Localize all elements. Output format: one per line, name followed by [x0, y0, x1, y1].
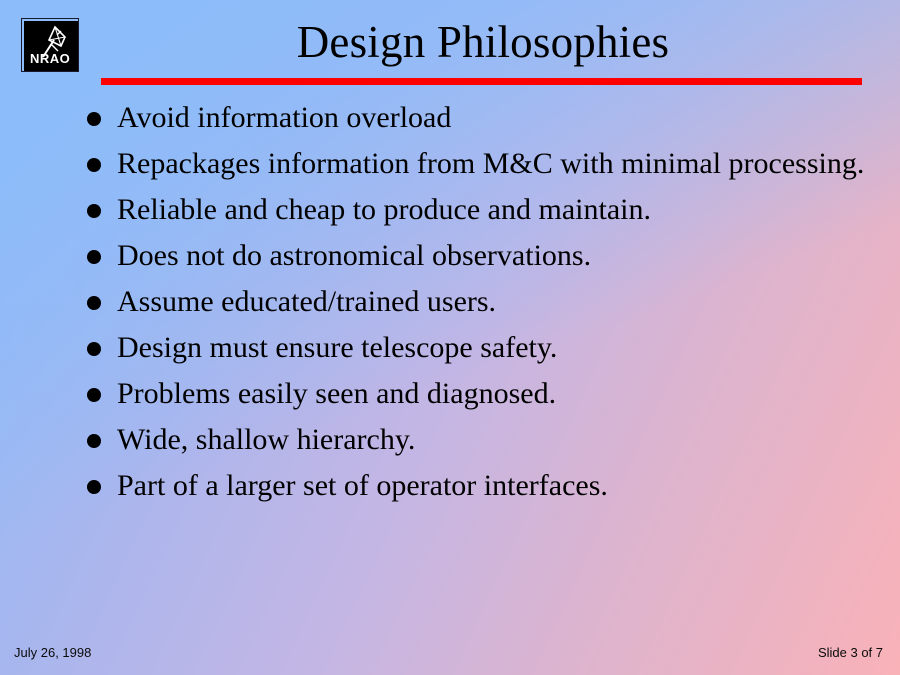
bullet-marker-icon	[87, 250, 101, 264]
svg-text:NRAO: NRAO	[30, 51, 70, 66]
bullet-item: Design must ensure telescope safety.	[84, 329, 884, 367]
title-underline-rule	[101, 78, 862, 85]
bullet-item: Part of a larger set of operator interfa…	[84, 467, 884, 505]
radio-telescope-icon: NRAO	[21, 18, 79, 72]
bullet-marker-icon	[87, 158, 101, 172]
bullet-item: Repackages information from M&C with min…	[84, 145, 884, 183]
bullet-marker-icon	[87, 480, 101, 494]
bullet-text: Design must ensure telescope safety.	[117, 329, 884, 367]
bullet-text: Avoid information overload	[117, 99, 884, 137]
bullet-item: Reliable and cheap to produce and mainta…	[84, 191, 884, 229]
footer-date: July 26, 1998	[14, 645, 91, 661]
bullet-item: Does not do astronomical observations.	[84, 237, 884, 275]
bullet-item: Assume educated/trained users.	[84, 283, 884, 321]
bullet-marker-icon	[87, 112, 101, 126]
presentation-slide: NRAO Design Philosophies Avoid informati…	[0, 0, 900, 675]
bullet-marker-icon	[87, 388, 101, 402]
bullet-text: Wide, shallow hierarchy.	[117, 421, 884, 459]
bullet-item: Wide, shallow hierarchy.	[84, 421, 884, 459]
bullet-marker-icon	[87, 342, 101, 356]
bullet-text: Does not do astronomical observations.	[117, 237, 884, 275]
bullet-item: Avoid information overload	[84, 99, 884, 137]
bullet-marker-icon	[87, 434, 101, 448]
bullet-list: Avoid information overload Repackages in…	[84, 99, 884, 513]
slide-title: Design Philosophies	[100, 16, 866, 68]
bullet-marker-icon	[87, 296, 101, 310]
bullet-text: Reliable and cheap to produce and mainta…	[117, 191, 884, 229]
nrao-logo: NRAO	[21, 18, 79, 72]
footer-slide-number: Slide 3 of 7	[818, 645, 883, 661]
bullet-text: Assume educated/trained users.	[117, 283, 884, 321]
bullet-text: Problems easily seen and diagnosed.	[117, 375, 884, 413]
bullet-item: Problems easily seen and diagnosed.	[84, 375, 884, 413]
bullet-marker-icon	[87, 204, 101, 218]
bullet-text: Repackages information from M&C with min…	[117, 145, 884, 183]
bullet-text: Part of a larger set of operator interfa…	[117, 467, 884, 505]
